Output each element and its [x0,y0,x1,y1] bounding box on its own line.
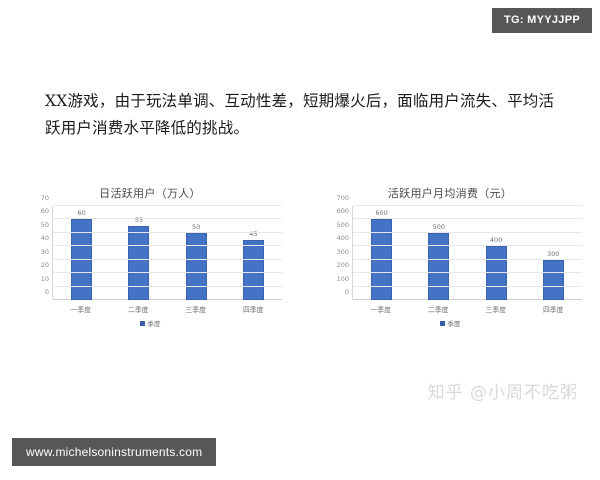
y-axis-tick: 600 [337,207,349,215]
x-axis-label: 二季度 [410,304,468,314]
gridline [53,218,282,219]
charts-row: 日活跃用户（万人） 706050403020100 60555045 一季度二季… [0,182,600,332]
plot-wrap: 7006005004003002001000 600500400300 [300,206,600,306]
y-axis-tick: 0 [45,288,49,296]
y-axis-tick: 0 [345,288,349,296]
bar [128,226,149,300]
bar [186,233,207,300]
gridline [53,259,282,260]
legend-swatch-icon [140,321,145,326]
gridline [53,286,282,287]
chart-panel-arpu: 活跃用户月均消费（元） 7006005004003002001000 60050… [300,182,600,332]
gridline [53,205,282,206]
gridline [353,232,582,233]
plot-area: 600500400300 [352,206,582,300]
gridline [353,205,582,206]
y-axis-tick: 100 [337,275,349,283]
zhihu-watermark: 知乎 @小周不吃粥 [428,378,578,403]
legend-label: 季度 [148,318,161,328]
gridline [53,272,282,273]
gridline [353,245,582,246]
bar-value-label: 600 [375,209,387,217]
x-axis-label: 三季度 [167,304,225,314]
x-axis-label: 三季度 [467,304,525,314]
y-axis-tick: 700 [337,194,349,202]
body-paragraph: XX游戏，由于玩法单调、互动性差，短期爆火后，面临用户流失、平均活跃用户消费水平… [45,88,555,142]
bar [428,233,449,300]
y-axis-tick: 10 [41,275,49,283]
x-axis-label: 一季度 [352,304,410,314]
y-axis-tick: 40 [41,234,49,242]
x-axis-labels: 一季度二季度三季度四季度 [352,304,582,314]
x-axis-label: 四季度 [225,304,283,314]
y-axis-tick: 400 [337,234,349,242]
gridline [53,245,282,246]
bar-value-label: 50 [192,223,200,231]
y-axis: 7006005004003002001000 [322,206,352,300]
y-axis-tick: 70 [41,194,49,202]
bar [243,240,264,300]
y-axis-tick: 30 [41,248,49,256]
chart-legend: 季度 [300,318,600,328]
x-axis-labels: 一季度二季度三季度四季度 [52,304,282,314]
plot-area: 60555045 [52,206,282,300]
y-axis-tick: 500 [337,221,349,229]
bar-value-label: 55 [135,216,143,224]
plot-wrap: 706050403020100 60555045 [0,206,300,306]
legend-label: 季度 [448,318,461,328]
telegram-handle-badge: TG: MYYJJPP [492,8,592,33]
y-axis: 706050403020100 [22,206,52,300]
bar-value-label: 400 [490,236,502,244]
y-axis-tick: 20 [41,261,49,269]
gridline [353,259,582,260]
gridline [353,286,582,287]
y-axis-tick: 50 [41,221,49,229]
bar-value-label: 300 [547,250,559,258]
legend-swatch-icon [440,321,445,326]
y-axis-tick: 60 [41,207,49,215]
chart-panel-dau: 日活跃用户（万人） 706050403020100 60555045 一季度二季… [0,182,300,332]
y-axis-tick: 200 [337,261,349,269]
gridline [353,218,582,219]
gridline [353,272,582,273]
bar-value-label: 60 [77,209,85,217]
x-axis-label: 一季度 [52,304,110,314]
bar-value-label: 45 [249,230,257,238]
chart-legend: 季度 [0,318,300,328]
x-axis-label: 二季度 [110,304,168,314]
bar-value-label: 500 [433,223,445,231]
footer-url-bar: www.michelsoninstruments.com [12,438,216,466]
y-axis-tick: 300 [337,248,349,256]
x-axis-label: 四季度 [525,304,583,314]
bar [543,260,564,300]
gridline [53,232,282,233]
